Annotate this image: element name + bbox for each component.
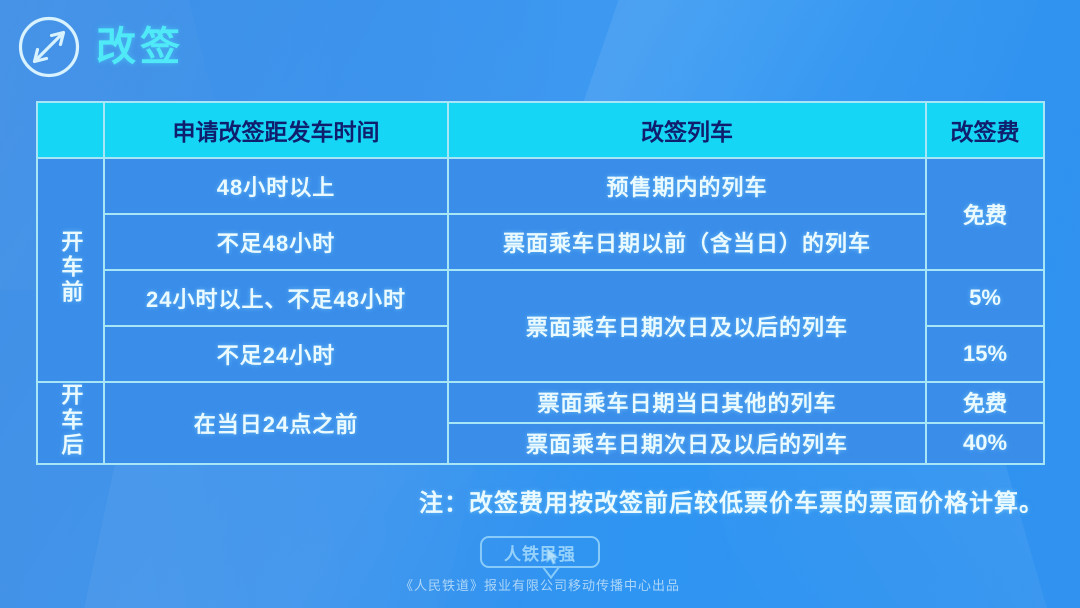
- table-row: 开车前 48小时以上 预售期内的列车 免费: [37, 158, 1044, 214]
- swap-exchange-circle-icon: [16, 14, 82, 80]
- change-ticket-fee-table: 申请改签距发车时间 改签列车 改签费 开车前 48小时以上 预售期内的列车 免费…: [36, 101, 1045, 465]
- brand-logo-text: 人铁民强: [504, 540, 576, 565]
- cell-fee-free-bottom: 免费: [926, 382, 1044, 423]
- cell-time-under-48h: 不足48小时: [104, 214, 448, 270]
- cell-time-48h-above: 48小时以上: [104, 158, 448, 214]
- cell-phase-after: 开车后: [37, 382, 104, 464]
- table-row: 开车后 在当日24点之前 票面乘车日期当日其他的列车 免费: [37, 382, 1044, 423]
- page-footer: 人铁民强 《人民铁道》报业有限公司移动传播中心出品: [0, 536, 1080, 594]
- cell-train-next-day-or-later-after: 票面乘车日期次日及以后的列车: [448, 423, 926, 464]
- brand-logo-badge: 人铁民强: [480, 536, 600, 568]
- cell-train-same-day-other: 票面乘车日期当日其他的列车: [448, 382, 926, 423]
- column-header-fee: 改签费: [926, 102, 1044, 158]
- cell-fee-15-percent: 15%: [926, 326, 1044, 382]
- cell-time-before-midnight: 在当日24点之前: [104, 382, 448, 464]
- footer-caption: 《人民铁道》报业有限公司移动传播中心出品: [400, 575, 680, 594]
- cell-time-24h-to-48h: 24小时以上、不足48小时: [104, 270, 448, 326]
- column-header-phase: [37, 102, 104, 158]
- footnote-text: 注：改签费用按改签前后较低票价车票的票面价格计算。: [419, 483, 1044, 518]
- cell-phase-before: 开车前: [37, 158, 104, 382]
- table-row: 24小时以上、不足48小时 票面乘车日期次日及以后的列车 5%: [37, 270, 1044, 326]
- cell-train-next-day-or-later: 票面乘车日期次日及以后的列车: [448, 270, 926, 382]
- table-header-row: 申请改签距发车时间 改签列车 改签费: [37, 102, 1044, 158]
- poster-canvas: 改签 申请改签距发车时间 改签列车 改签费 开车前 48小时以上 预售期内的列车…: [0, 0, 1080, 608]
- cell-fee-40-percent: 40%: [926, 423, 1044, 464]
- cell-train-on-or-before-date: 票面乘车日期以前（含当日）的列车: [448, 214, 926, 270]
- page-header: 改签: [16, 14, 184, 80]
- phase-label-vertical: 开车前: [59, 230, 83, 305]
- cell-fee-5-percent: 5%: [926, 270, 1044, 326]
- page-title: 改签: [96, 27, 184, 67]
- table-row: 不足48小时 票面乘车日期以前（含当日）的列车: [37, 214, 1044, 270]
- column-header-train: 改签列车: [448, 102, 926, 158]
- column-header-time: 申请改签距发车时间: [104, 102, 448, 158]
- mouse-cursor-icon: [546, 547, 560, 565]
- cell-fee-free-top: 免费: [926, 158, 1044, 270]
- cell-time-under-24h: 不足24小时: [104, 326, 448, 382]
- phase-label-vertical: 开车后: [59, 383, 83, 458]
- cell-train-presale-period: 预售期内的列车: [448, 158, 926, 214]
